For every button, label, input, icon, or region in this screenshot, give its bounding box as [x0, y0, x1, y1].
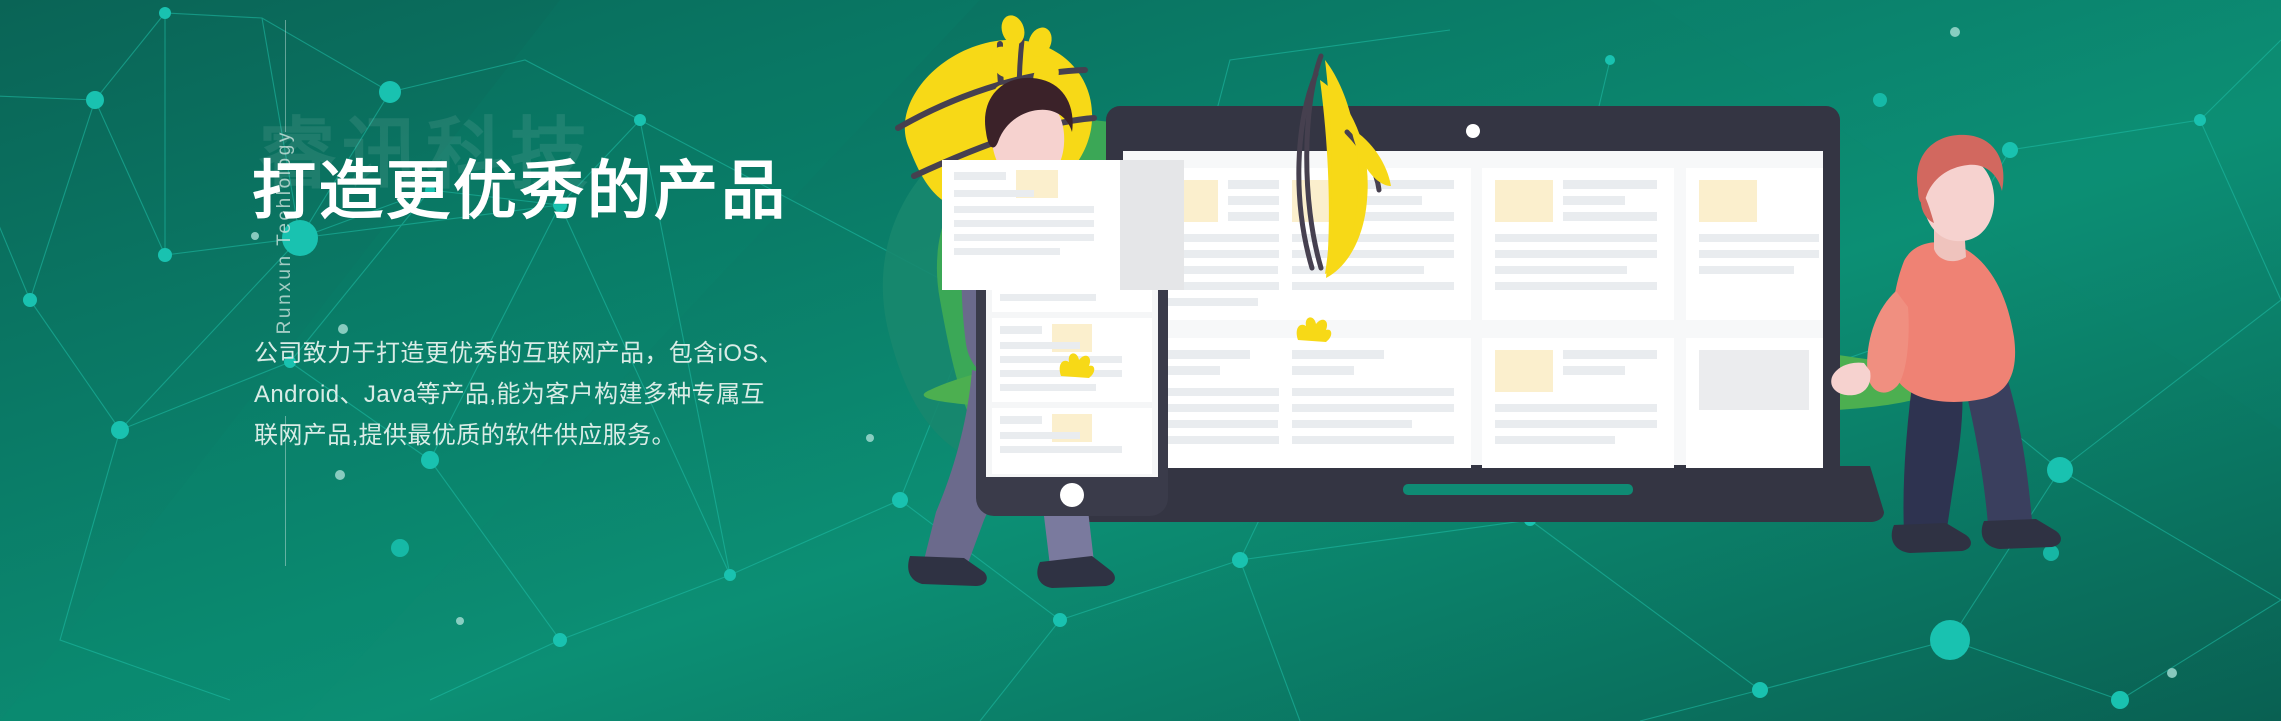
laptop-camera-dot: [1466, 124, 1480, 138]
laptop-device: [1073, 106, 1884, 522]
screen-card: [1686, 168, 1826, 320]
page-title: 打造更优秀的产品: [252, 140, 788, 232]
hero-description: 公司致力于打造更优秀的互联网产品，包含iOS、 Android、Java等产品,…: [254, 333, 824, 456]
laptop-hinge-strip: [1403, 484, 1633, 495]
tablet-device: [942, 160, 1184, 516]
laptop-screen-content: [1145, 168, 1826, 468]
hero-description-line-2: Android、Java等产品,能为客户构建多种专属互: [254, 374, 824, 415]
tablet-home-button: [1060, 483, 1084, 507]
hero-banner: Runxun Techlology 睿讯科技 打造更优秀的产品 公司致力于打造更…: [0, 0, 2281, 721]
hero-description-line-1: 公司致力于打造更优秀的互联网产品，包含iOS、: [254, 333, 824, 374]
screen-card: [992, 408, 1152, 474]
hero-illustration: [880, 0, 2281, 721]
screen-card: [1482, 168, 1674, 320]
hero-description-line-3: 联网产品,提供最优质的软件供应服务。: [254, 415, 824, 456]
screen-card: [1686, 338, 1826, 468]
screen-card: [1482, 338, 1674, 468]
screen-card: [1279, 338, 1471, 468]
floating-document: [942, 160, 1184, 290]
